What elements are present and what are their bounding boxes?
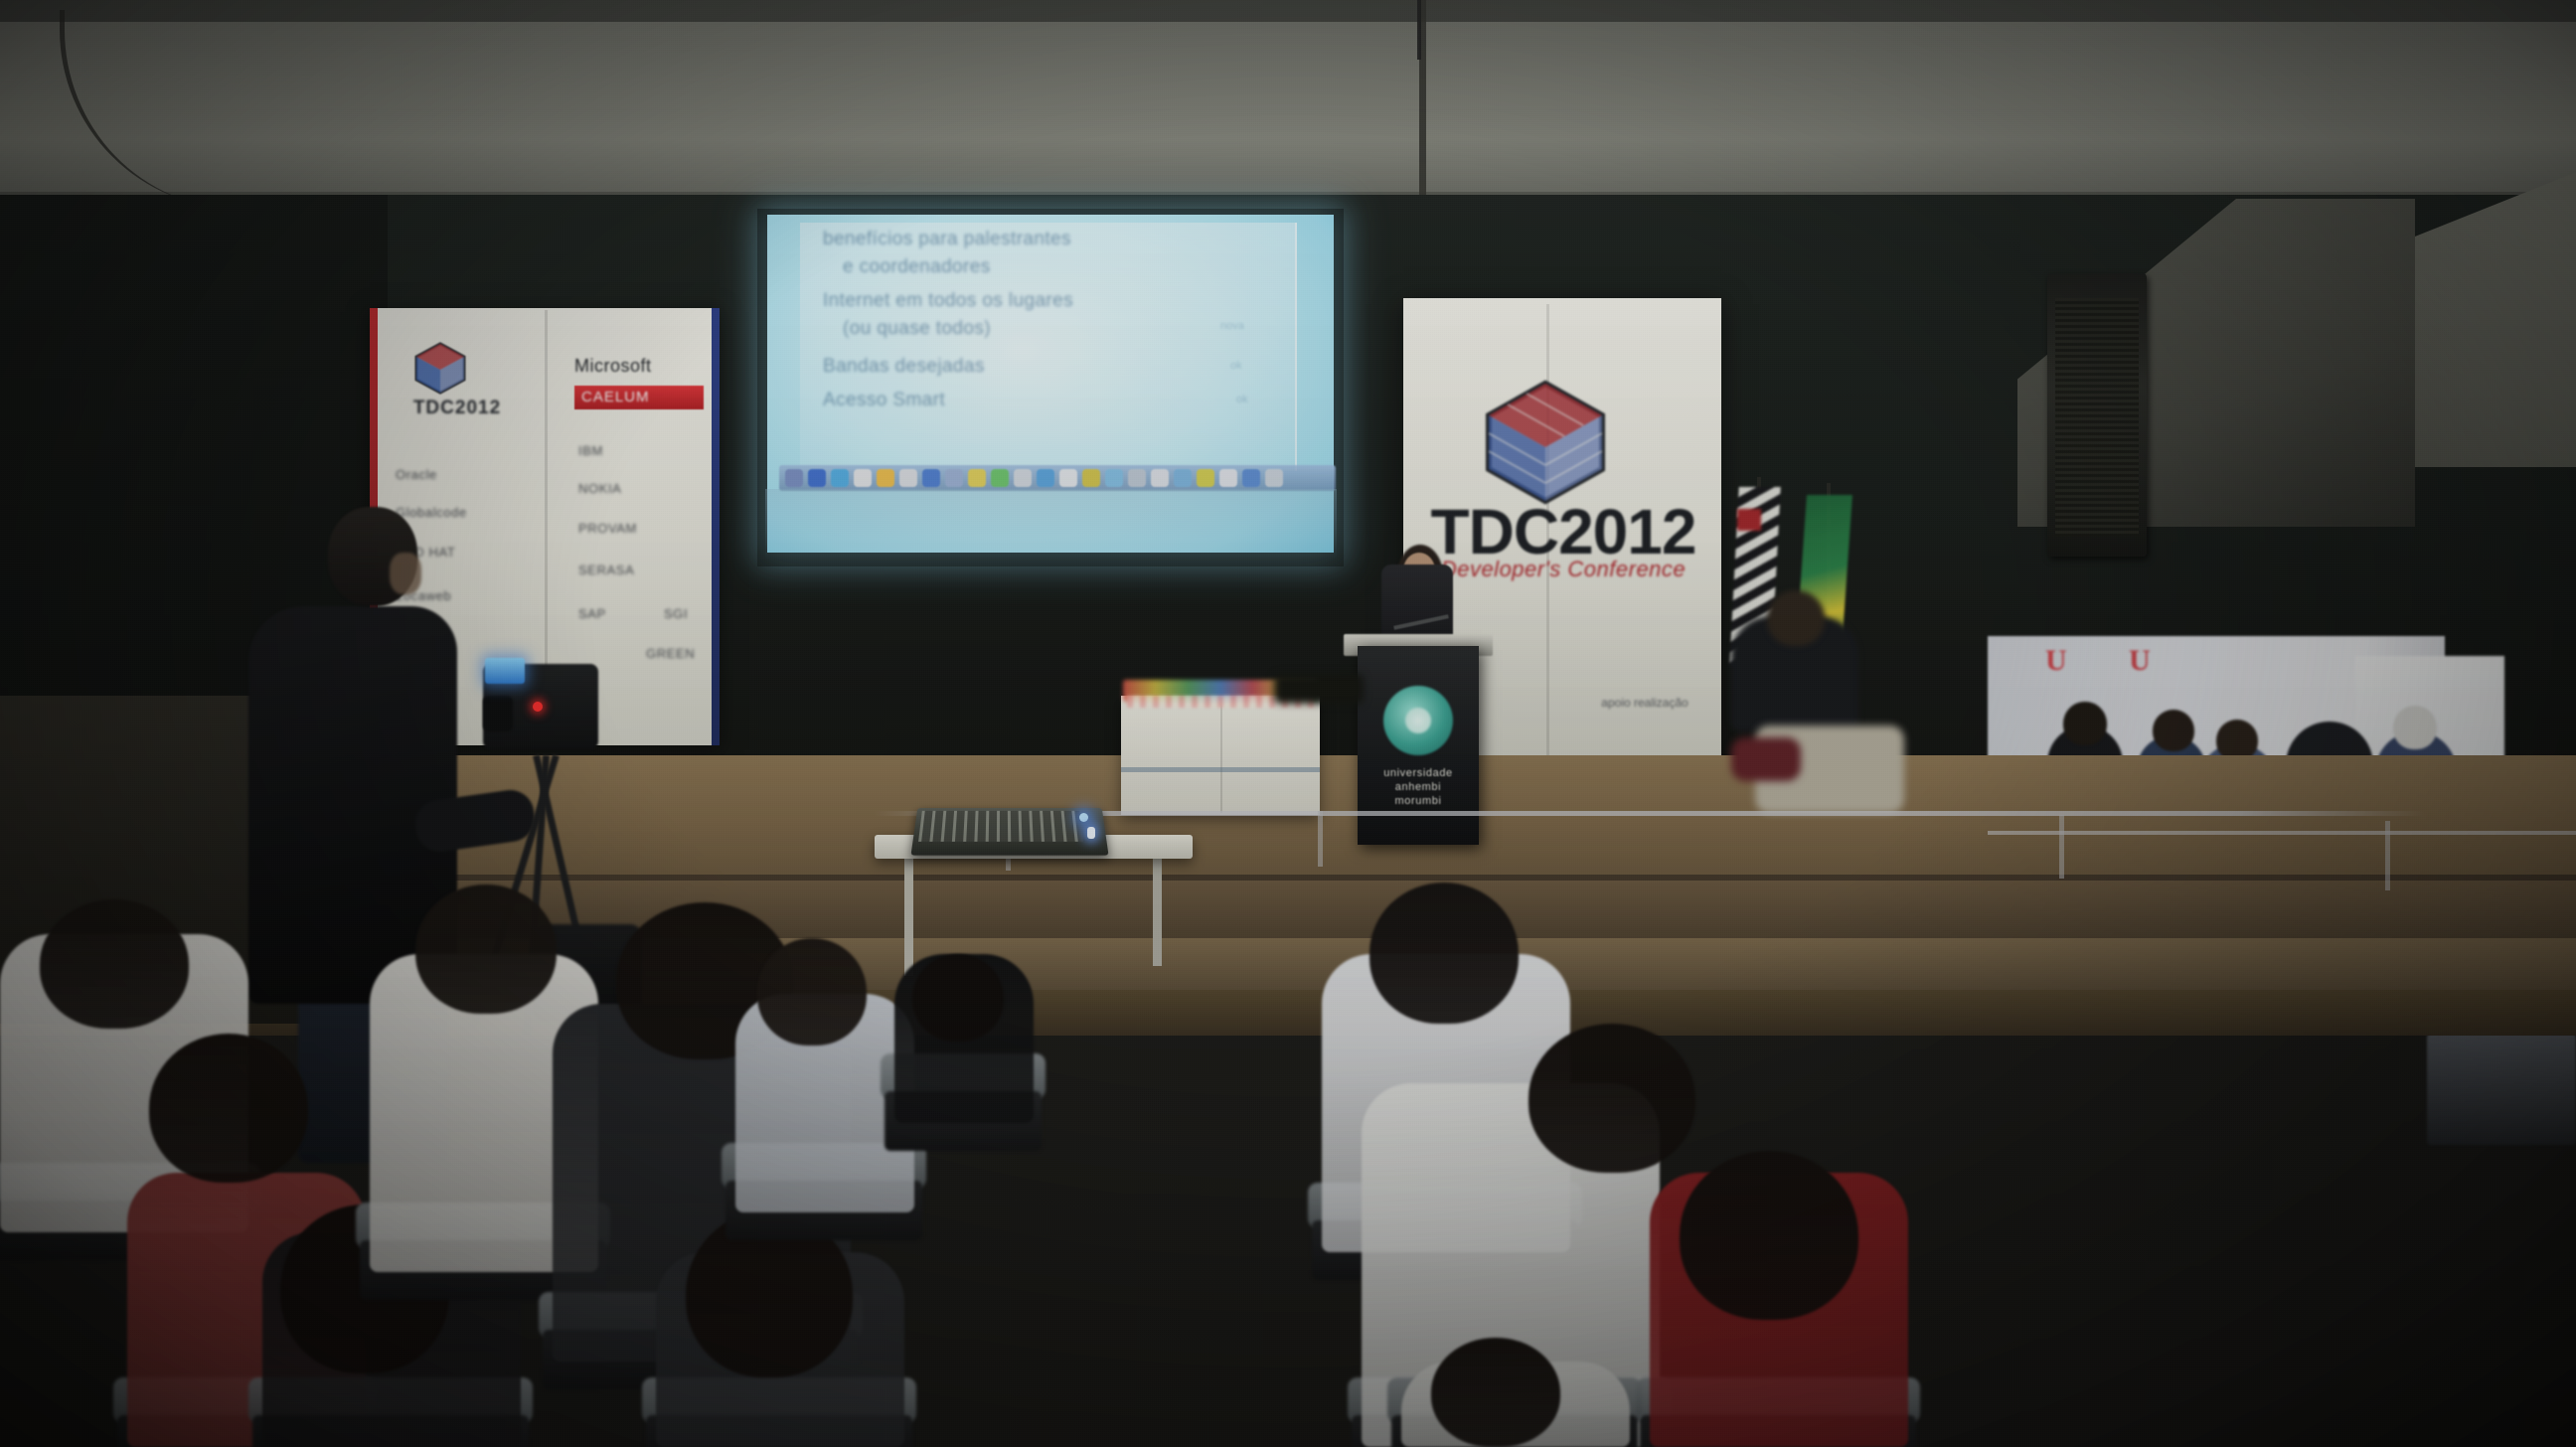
dock-app-icon-19 — [1197, 469, 1214, 487]
camera-record-indicator — [533, 702, 543, 712]
slide-note-2: ok — [1230, 360, 1242, 372]
dock-app-icon-21 — [1242, 469, 1260, 487]
dock-app-icon-11 — [1014, 469, 1032, 487]
dock-app-icon-6 — [899, 469, 917, 487]
audience-member-head — [415, 884, 557, 1014]
stage-walker-bag — [1731, 737, 1801, 781]
camera-operator-face — [390, 553, 421, 594]
dock-app-icon-1 — [785, 469, 803, 487]
slide-bullet-1: benefícios para palestrantes — [823, 229, 1071, 250]
sponsor-logo-r3: PROVAM — [578, 521, 637, 536]
dock-app-icon-18 — [1174, 469, 1192, 487]
sponsor-banner-tdc-label: TDC2012 — [398, 398, 517, 417]
sponsor-logo-l2: Globalcode — [396, 505, 467, 520]
sponsor-logo-r6: SGI — [664, 606, 688, 621]
dock-app-icon-7 — [922, 469, 940, 487]
slide-bullet-5: Bandas desejadas — [823, 356, 985, 378]
sponsor-logo-r4: SERASA — [578, 563, 634, 577]
sponsor-logo-r2: NOKIA — [578, 481, 621, 496]
slide-note-3: ok — [1236, 394, 1248, 405]
anhembi-morumbi-logo-mark — [1405, 708, 1431, 733]
bystander-5-head — [2393, 706, 2437, 749]
slide-bullet-3: Internet em todos os lugares — [823, 290, 1073, 312]
tdc2012-subtitle: Developer's Conference — [1409, 557, 1717, 582]
pa-speaker-grill — [2055, 298, 2139, 537]
sponsor-logo-r1: IBM — [578, 443, 603, 458]
dock-app-icon-3 — [831, 469, 849, 487]
ceiling — [0, 0, 2576, 199]
sponsor-logo-r5: SAP — [578, 606, 606, 621]
sponsor-logo-r7: GREEN — [646, 646, 695, 661]
dock-app-icon-5 — [877, 469, 894, 487]
railing-post-3 — [2059, 815, 2064, 879]
camera-lcd-screen — [485, 658, 525, 684]
caelum-logo-label: CAELUM — [581, 389, 701, 405]
dock-app-icon-2 — [808, 469, 826, 487]
audience-member-head — [757, 938, 867, 1045]
mixer-led-indicator-1 — [1079, 813, 1088, 822]
railing-post-2 — [1318, 811, 1323, 867]
screen-light-spill — [765, 489, 1337, 559]
sponsor-banner-right-stripe — [712, 308, 720, 745]
railing-post-4 — [2385, 821, 2390, 890]
dock-app-icon-4 — [854, 469, 872, 487]
slide-bullet-6: Acesso Smart — [823, 390, 945, 411]
camera-lens-icon — [483, 696, 513, 731]
ceiling-pole-top — [1417, 0, 1421, 60]
stage-railing — [875, 811, 2425, 816]
dock-app-icon-15 — [1105, 469, 1123, 487]
bystander-1-head — [2063, 702, 2107, 745]
audience-member-head — [1369, 883, 1519, 1024]
podium-institution-label: universidade anhembi morumbi — [1364, 767, 1473, 808]
microsoft-logo-label: Microsoft — [574, 356, 704, 377]
sponsor-logo-l1: Oracle — [396, 467, 437, 482]
dock-app-icon-20 — [1219, 469, 1237, 487]
dock-app-icon-16 — [1128, 469, 1146, 487]
audience-member-head — [1680, 1151, 1858, 1320]
audience-member-head — [1529, 1024, 1695, 1173]
audience-member-head — [1431, 1338, 1560, 1447]
materials-table-split — [1220, 698, 1222, 813]
dock-app-icon-17 — [1151, 469, 1169, 487]
tdc-cube-logo-icon — [412, 340, 468, 396]
ceiling-edge-beam — [0, 0, 2576, 22]
tdc2012-banner-footer: apoio realização — [1590, 696, 1699, 712]
stage-walker-head — [1767, 590, 1825, 646]
audience-member-head — [149, 1034, 308, 1183]
dock-app-icon-13 — [1059, 469, 1077, 487]
audience-member-head — [912, 954, 1004, 1042]
slide-bullet-4: (ou quase todos) — [843, 318, 991, 340]
dock-app-icon-12 — [1037, 469, 1054, 487]
slide-note-1: nova — [1220, 320, 1244, 332]
audio-mixer-faders[interactable] — [918, 811, 1083, 842]
conference-photo-scene: benefícios para palestrantes e coordenad… — [0, 0, 2576, 1447]
dock-app-icon-22 — [1265, 469, 1283, 487]
slide-bullet-2: e coordenadores — [843, 256, 991, 278]
bystander-2-head — [2153, 710, 2194, 751]
av-table-leg-left — [904, 857, 913, 976]
rear-monitor — [2427, 1034, 2576, 1145]
equipment-case — [1274, 674, 1364, 704]
sao-paulo-flag-canton — [1737, 509, 1761, 531]
wall-logo-mark-2: U — [2129, 644, 2151, 678]
dock-app-icon-8 — [945, 469, 963, 487]
dock-app-icon-10 — [991, 469, 1009, 487]
dock-app-icon-14 — [1082, 469, 1100, 487]
tdc-cube-logo-large-icon — [1481, 378, 1610, 507]
materials-table-band — [1121, 767, 1320, 772]
dock-app-icon-9 — [968, 469, 986, 487]
macos-dock — [779, 465, 1336, 491]
stage-railing-right — [1988, 831, 2576, 835]
av-table-leg-right — [1153, 857, 1162, 966]
mixer-led-indicator-2 — [1087, 827, 1095, 839]
audience-member-head — [40, 899, 189, 1029]
wall-logo-mark-1: U — [2045, 644, 2067, 678]
